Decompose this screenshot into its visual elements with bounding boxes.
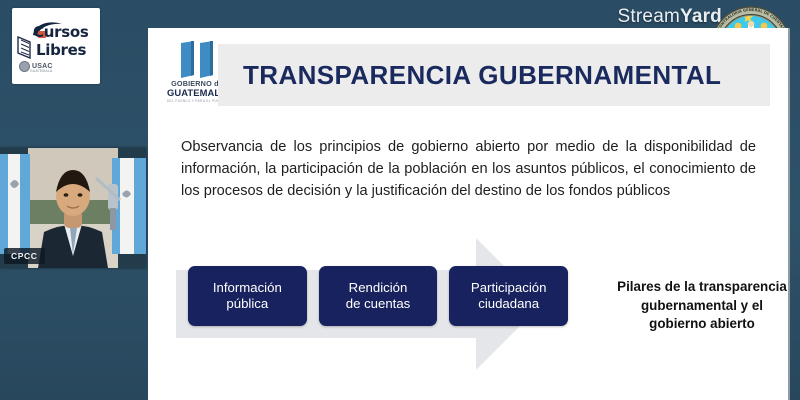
participant-name-label: CPCC <box>4 248 45 264</box>
slide-title-band: TRANSPARENCIA GUBERNAMENTAL <box>218 44 770 106</box>
watermark-stream: Stream <box>618 6 680 27</box>
pillar-1-line2: pública <box>226 296 268 311</box>
pillar-3-line2: ciudadana <box>478 296 539 311</box>
logo-cap-c: C <box>33 23 44 41</box>
pillar-2-line1: Rendición <box>349 280 408 295</box>
logo-word-cursos: ursos <box>44 23 89 41</box>
logo-word-libres: ibres <box>45 41 86 59</box>
pillar-box-informacion-publica[interactable]: Información pública <box>188 266 307 326</box>
pillar-3-line1: Participación <box>471 280 547 295</box>
pillar-box-group: Información pública Rendición de cuentas… <box>188 266 568 326</box>
logo-cap-l: L <box>36 41 45 59</box>
pillar-box-rendicion-de-cuentas[interactable]: Rendición de cuentas <box>319 266 438 326</box>
cursos-libres-logo: Cursos Libres USAC GUATEMALA <box>12 8 100 84</box>
slide-edge-seam <box>788 28 790 400</box>
streamyard-watermark: StreamYard <box>618 6 722 28</box>
broadcast-stage: Cursos Libres USAC GUATEMALA StreamYard <box>0 0 800 400</box>
participant-video-tile[interactable]: CPCC <box>0 148 146 268</box>
slide-paragraph: Observancia de los principios de gobiern… <box>181 136 756 203</box>
guatemala-bars-icon <box>171 41 223 79</box>
pillar-1-line1: Información <box>213 280 282 295</box>
usac-sublabel: GUATEMALA <box>30 69 52 73</box>
pillars-caption: Pilares de la transparencia gubernamenta… <box>616 278 788 334</box>
presentation-slide: GOBIERNO de GUATEMALA DEL PUEBLO Y PARA … <box>148 28 790 400</box>
pillar-2-line2: de cuentas <box>346 296 411 311</box>
slide-title: TRANSPARENCIA GUBERNAMENTAL <box>243 60 721 91</box>
usac-seal-icon <box>19 61 30 72</box>
pillar-box-participacion-ciudadana[interactable]: Participación ciudadana <box>449 266 568 326</box>
